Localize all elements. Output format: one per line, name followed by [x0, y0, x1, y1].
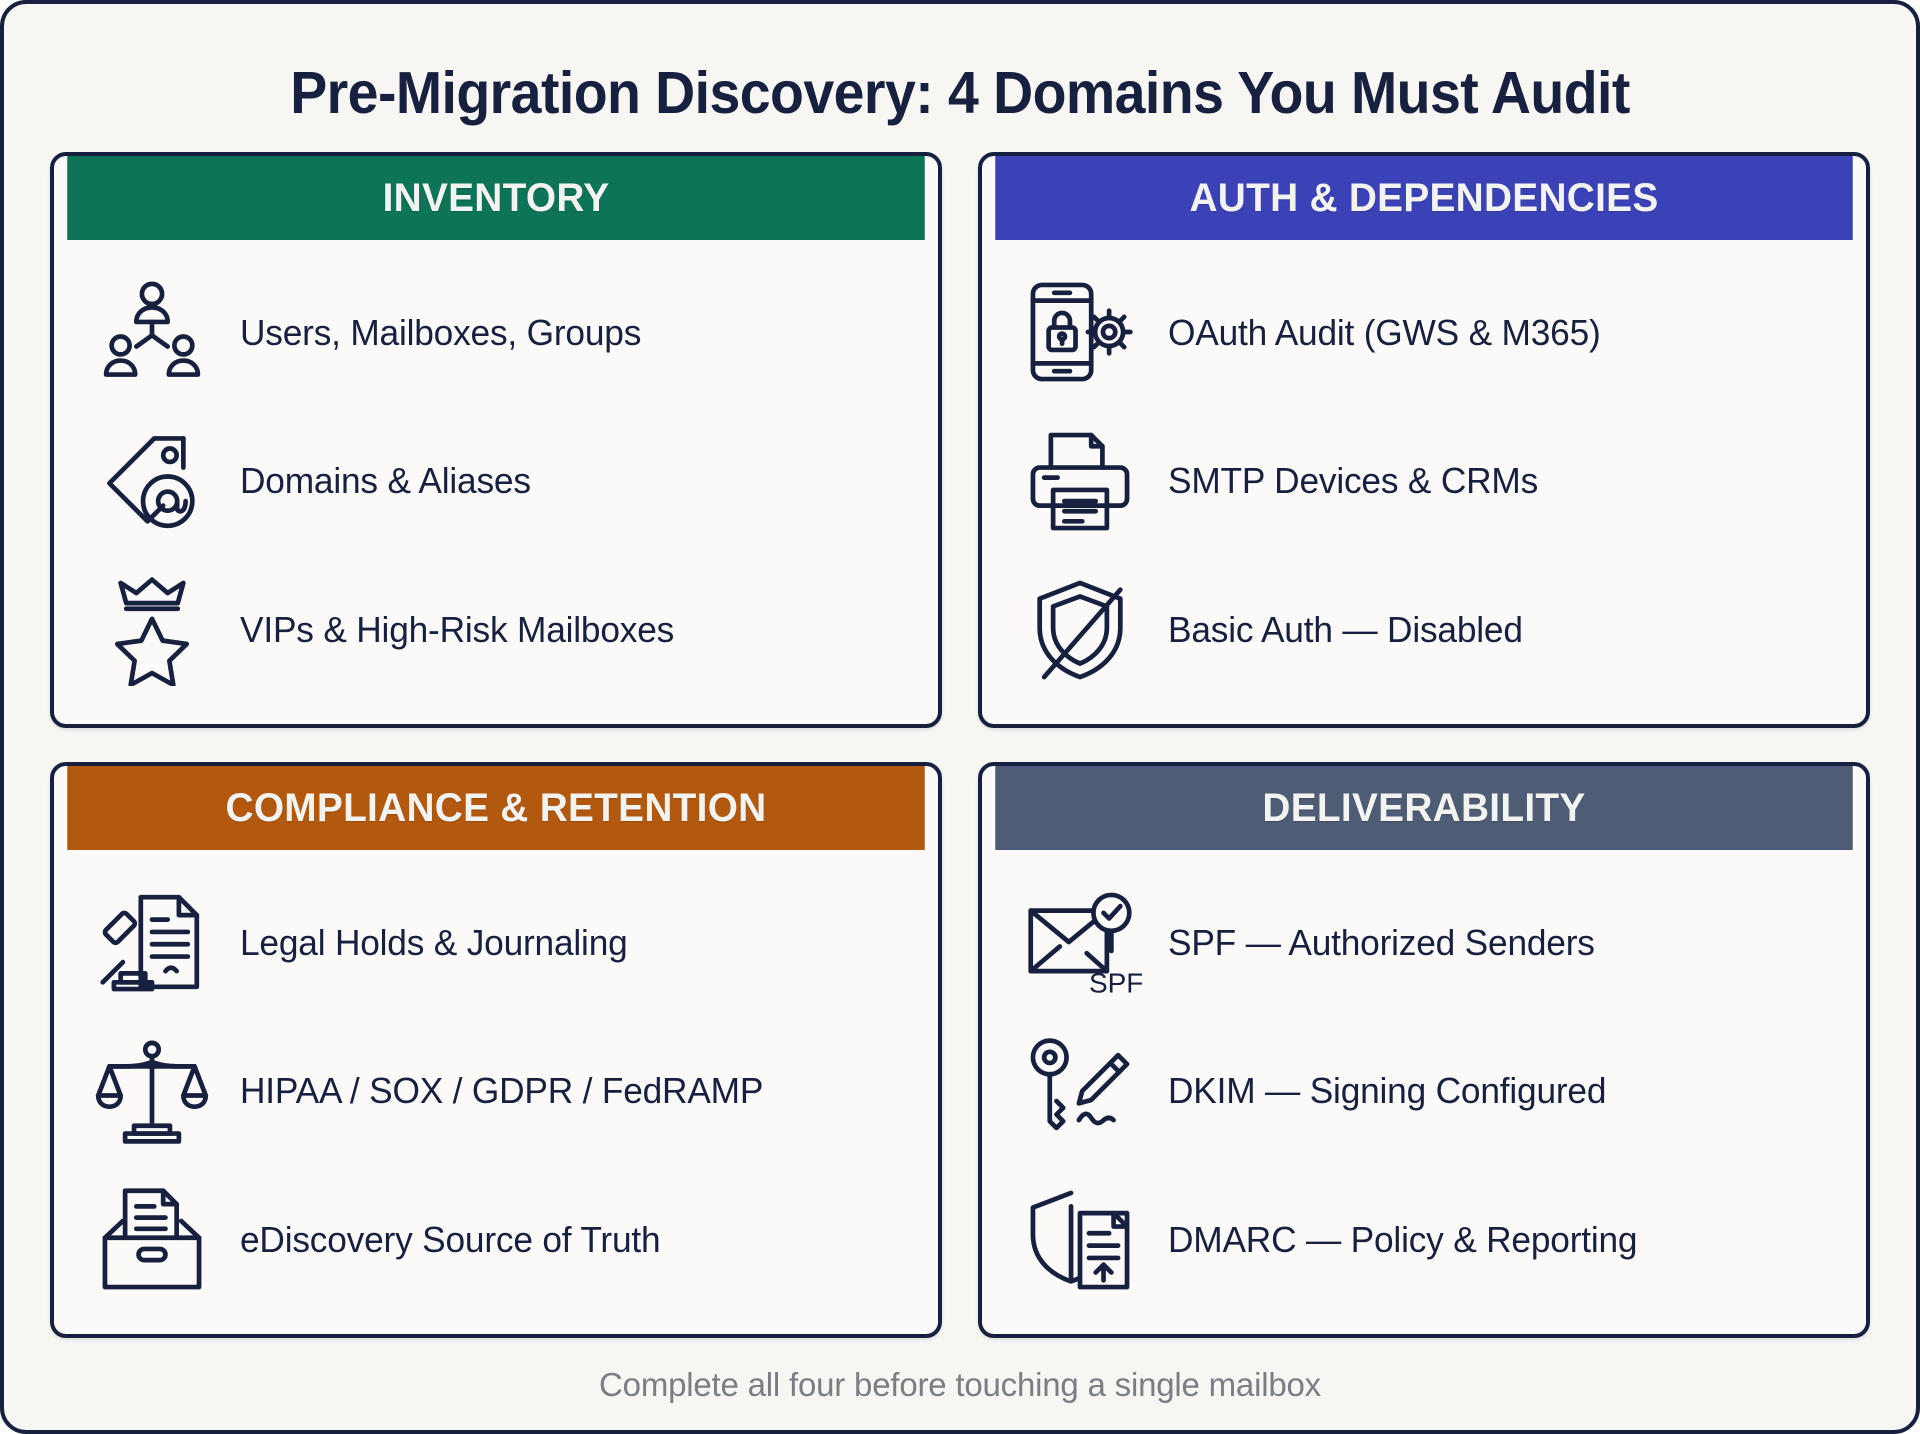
list-item-label: Legal Holds & Journaling	[240, 921, 628, 964]
shield-document-upload-icon	[1018, 1184, 1142, 1296]
envelope-check-spf-icon: SPF	[1018, 886, 1142, 998]
panel-body-deliverability: SPF SPF — Authorized Senders	[982, 850, 1866, 1334]
list-item: HIPAA / SOX / GDPR / FedRAMP	[76, 1035, 916, 1147]
footer-note: Complete all four before touching a sing…	[50, 1346, 1870, 1430]
list-item: DMARC — Policy & Reporting	[1004, 1184, 1844, 1296]
list-item-label: HIPAA / SOX / GDPR / FedRAMP	[240, 1069, 763, 1112]
list-item-label: eDiscovery Source of Truth	[240, 1218, 660, 1261]
scales-of-justice-icon	[90, 1035, 214, 1147]
infographic-poster: Pre-Migration Discovery: 4 Domains You M…	[0, 0, 1920, 1434]
panel-body-auth-dependencies: OAuth Audit (GWS & M365) SMTP Dev	[982, 240, 1866, 724]
svg-text:SPF: SPF	[1089, 968, 1142, 999]
page-title: Pre-Migration Discovery: 4 Domains You M…	[105, 38, 1816, 152]
list-item: Basic Auth — Disabled	[1004, 574, 1844, 686]
list-item-label: OAuth Audit (GWS & M365)	[1168, 311, 1601, 354]
list-item: eDiscovery Source of Truth	[76, 1184, 916, 1296]
printer-icon	[1018, 425, 1142, 537]
panel-body-inventory: Users, Mailboxes, Groups Domains	[54, 240, 938, 724]
panel-inventory: INVENTORY Users, Mai	[50, 152, 942, 728]
file-cabinet-icon	[90, 1184, 214, 1296]
crown-star-icon	[90, 574, 214, 686]
panel-body-compliance-retention: Legal Holds & Journaling	[54, 850, 938, 1334]
list-item: Users, Mailboxes, Groups	[76, 276, 916, 388]
domain-panel-grid: INVENTORY Users, Mai	[50, 152, 1870, 1346]
panel-auth-dependencies: AUTH & DEPENDENCIES	[978, 152, 1870, 728]
key-pen-signature-icon	[1018, 1035, 1142, 1147]
shield-slash-icon	[1018, 574, 1142, 686]
list-item-label: VIPs & High-Risk Mailboxes	[240, 608, 674, 651]
list-item-label: DKIM — Signing Configured	[1168, 1069, 1606, 1112]
panel-compliance-retention: COMPLIANCE & RETENTION	[50, 762, 942, 1338]
list-item-label: Basic Auth — Disabled	[1168, 608, 1523, 651]
list-item: VIPs & High-Risk Mailboxes	[76, 574, 916, 686]
phone-lock-gear-icon	[1018, 276, 1142, 388]
panel-deliverability: DELIVERABILITY SPF SP	[978, 762, 1870, 1338]
list-item: Domains & Aliases	[76, 425, 916, 537]
panel-header-auth-dependencies: AUTH & DEPENDENCIES	[995, 156, 1852, 240]
gavel-document-icon	[90, 886, 214, 998]
list-item: DKIM — Signing Configured	[1004, 1035, 1844, 1147]
list-item-label: SPF — Authorized Senders	[1168, 921, 1595, 964]
list-item-label: Users, Mailboxes, Groups	[240, 311, 641, 354]
panel-header-inventory: INVENTORY	[67, 156, 924, 240]
list-item: Legal Holds & Journaling	[76, 886, 916, 998]
list-item: SMTP Devices & CRMs	[1004, 425, 1844, 537]
list-item-label: SMTP Devices & CRMs	[1168, 459, 1538, 502]
list-item: SPF SPF — Authorized Senders	[1004, 886, 1844, 998]
tag-at-sign-icon	[90, 425, 214, 537]
panel-header-compliance-retention: COMPLIANCE & RETENTION	[67, 766, 924, 850]
list-item-label: Domains & Aliases	[240, 459, 531, 502]
org-chart-people-icon	[90, 276, 214, 388]
list-item-label: DMARC — Policy & Reporting	[1168, 1218, 1637, 1261]
list-item: OAuth Audit (GWS & M365)	[1004, 276, 1844, 388]
panel-header-deliverability: DELIVERABILITY	[995, 766, 1852, 850]
